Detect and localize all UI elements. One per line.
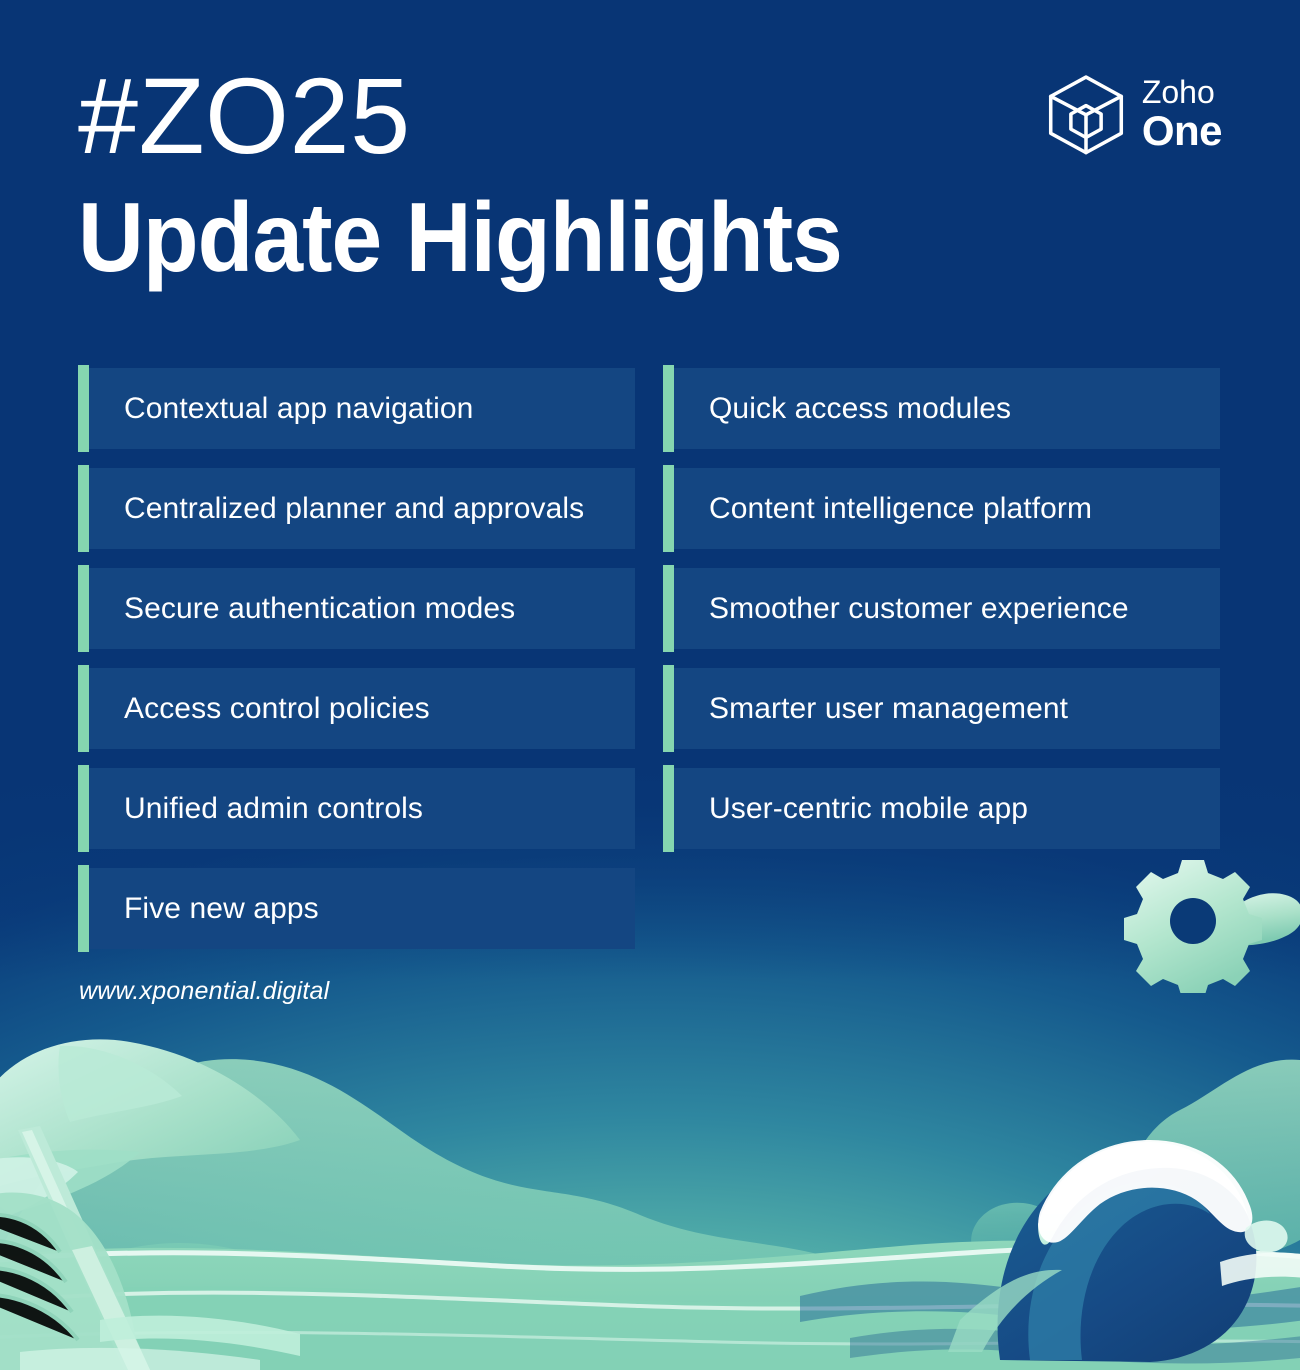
highlights-right-column: Quick access modules Content intelligenc…: [663, 368, 1220, 949]
list-item-label: Smoother customer experience: [674, 592, 1129, 626]
list-item-label: Contextual app navigation: [89, 392, 473, 426]
list-item-tile: Smarter user management: [674, 668, 1220, 749]
list-item-tile: Smoother customer experience: [674, 568, 1220, 649]
list-item[interactable]: Centralized planner and approvals: [78, 468, 635, 549]
highlights-grid: Contextual app navigation Centralized pl…: [78, 368, 1220, 949]
accent-bar: [78, 865, 89, 952]
accent-bar: [78, 665, 89, 752]
zoho-one-logo: Zoho One: [1044, 72, 1222, 156]
cloud-bank-left-secondary: [0, 1243, 720, 1370]
list-item-tile: User-centric mobile app: [674, 768, 1220, 849]
poster-canvas: #ZO25 Update Highlights Zoho One Context…: [0, 0, 1300, 1370]
list-item[interactable]: Smoother customer experience: [663, 568, 1220, 649]
accent-bar: [663, 465, 674, 552]
list-item-tile: Unified admin controls: [89, 768, 635, 849]
list-item-label: Secure authentication modes: [89, 592, 515, 626]
list-item[interactable]: Access control policies: [78, 668, 635, 749]
list-item[interactable]: Smarter user management: [663, 668, 1220, 749]
list-item-tile: Contextual app navigation: [89, 368, 635, 449]
beach-umbrella-illustration: [0, 1039, 300, 1370]
list-item[interactable]: Contextual app navigation: [78, 368, 635, 449]
accent-bar: [663, 565, 674, 652]
accent-bar: [78, 565, 89, 652]
list-item-label: Quick access modules: [674, 392, 1011, 426]
accent-bar: [663, 765, 674, 852]
cloud-bank-right: [971, 1060, 1300, 1277]
foam-streaks: [0, 1248, 1300, 1344]
list-item-tile: Centralized planner and approvals: [89, 468, 635, 549]
logo-zoho-text: Zoho: [1142, 76, 1222, 108]
website-url[interactable]: www.xponential.digital: [79, 977, 329, 1006]
logo-wordmark: Zoho One: [1142, 76, 1222, 152]
deck-chair-illustration: [0, 1193, 300, 1370]
accent-bar: [663, 665, 674, 752]
cloud-bank-left: [0, 1059, 1040, 1370]
accent-bar: [78, 365, 89, 452]
list-item-tile: Content intelligence platform: [674, 468, 1220, 549]
accent-bar: [78, 765, 89, 852]
list-item[interactable]: Five new apps: [78, 868, 635, 949]
list-item-label: Centralized planner and approvals: [89, 492, 584, 526]
list-item-tile: Quick access modules: [674, 368, 1220, 449]
list-item-tile: Secure authentication modes: [89, 568, 635, 649]
list-item[interactable]: Content intelligence platform: [663, 468, 1220, 549]
page-title: Update Highlights: [78, 188, 842, 286]
accent-bar: [663, 365, 674, 452]
zoho-cube-icon: [1044, 72, 1128, 156]
list-item-label: User-centric mobile app: [674, 792, 1028, 826]
list-item-tile: Access control policies: [89, 668, 635, 749]
sea-foreground: [0, 1241, 1300, 1370]
list-item-label: Smarter user management: [674, 692, 1068, 726]
list-item-label: Unified admin controls: [89, 792, 423, 826]
highlights-left-column: Contextual app navigation Centralized pl…: [78, 368, 635, 949]
water-ribbons: [800, 1282, 1300, 1364]
list-item[interactable]: Secure authentication modes: [78, 568, 635, 649]
list-item-label: Content intelligence platform: [674, 492, 1092, 526]
list-item-label: Five new apps: [89, 892, 319, 926]
list-item[interactable]: User-centric mobile app: [663, 768, 1220, 849]
hashtag-text: #ZO25: [78, 62, 411, 170]
ocean-wave-illustration: [948, 1140, 1300, 1362]
list-item[interactable]: Quick access modules: [663, 368, 1220, 449]
list-item[interactable]: Unified admin controls: [78, 768, 635, 849]
logo-one-text: One: [1142, 110, 1222, 152]
list-item-label: Access control policies: [89, 692, 430, 726]
list-item-tile: Five new apps: [89, 868, 635, 949]
accent-bar: [78, 465, 89, 552]
